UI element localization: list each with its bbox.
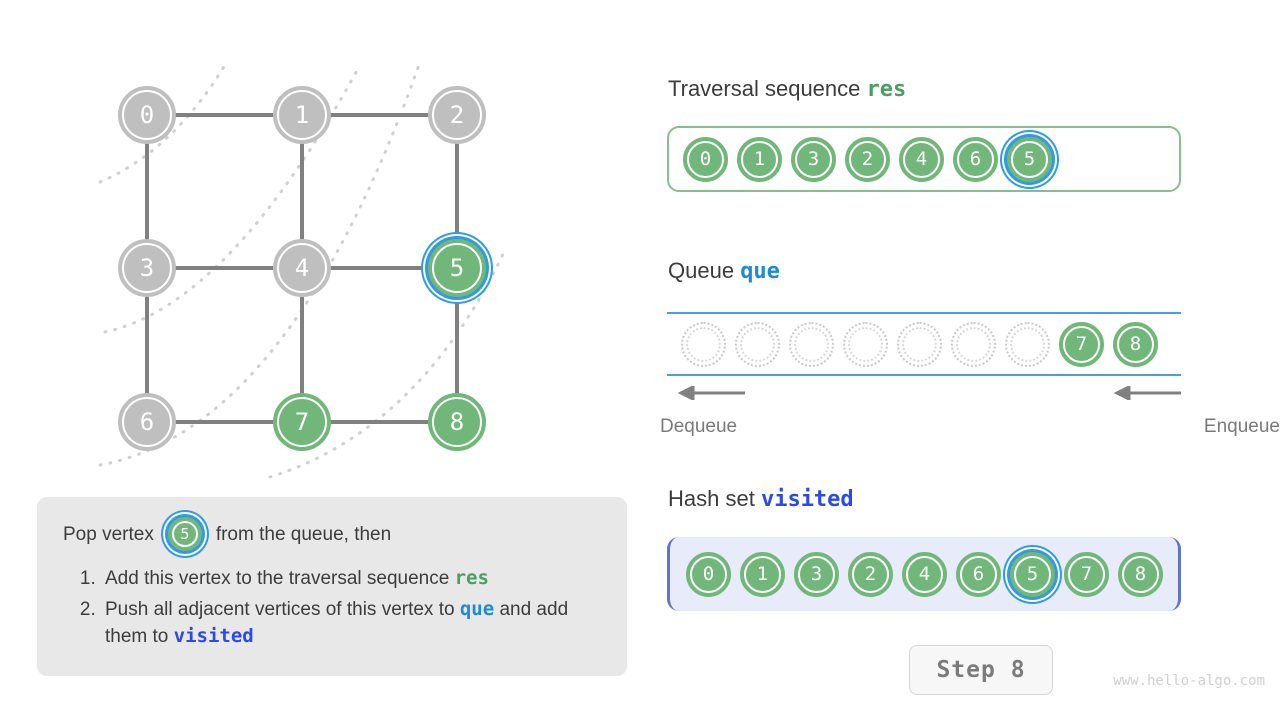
que-item-label: 8: [1130, 333, 1141, 355]
que-empty-slot: [735, 322, 780, 367]
graph-vertex-1[interactable]: 1: [273, 86, 331, 144]
graph-vertex-2[interactable]: 2: [428, 86, 486, 144]
right-panel: Traversal sequence res 0 1 3 2 4 6 5 Que…: [660, 0, 1280, 720]
que-title-plain: Queue: [668, 258, 734, 283]
visited-item-highlighted[interactable]: 5: [1010, 552, 1055, 597]
res-item[interactable]: 1: [737, 137, 782, 182]
que-container: 7 8: [667, 312, 1181, 376]
res-item[interactable]: 4: [899, 137, 944, 182]
visited-item-label: 2: [865, 563, 876, 585]
enqueue-label: Enqueue: [1204, 416, 1280, 438]
vertex-label: 3: [140, 254, 154, 282]
instruction-step-2: Push all adjacent vertices of this verte…: [101, 596, 601, 651]
visited-item-label: 7: [1081, 563, 1092, 585]
visited-item[interactable]: 4: [902, 552, 947, 597]
instruction-box: Pop vertex 5 from the queue, then Add th…: [37, 497, 627, 676]
vertex-label: 5: [450, 254, 464, 282]
instruction-lead-before: Pop vertex: [63, 525, 154, 544]
res-section-title: Traversal sequence res: [668, 76, 906, 102]
res-item-label: 3: [808, 148, 819, 170]
vertex-label: 8: [450, 408, 464, 436]
visited-item-label: 6: [973, 563, 984, 585]
visited-title-code: visited: [761, 487, 854, 512]
vertex-label: 4: [295, 254, 309, 282]
que-title-code: que: [740, 259, 780, 284]
step2-text-before: Push all adjacent vertices of this verte…: [105, 599, 460, 620]
graph-vertex-7[interactable]: 7: [273, 393, 331, 451]
visited-section-title: Hash set visited: [668, 486, 854, 512]
visited-title-plain: Hash set: [668, 486, 755, 511]
dequeue-label: Dequeue: [660, 416, 737, 438]
step1-text: Add this vertex to the traversal sequenc…: [105, 568, 455, 589]
dequeue-arrow-icon: [667, 386, 745, 400]
visited-item-label: 5: [1027, 563, 1038, 585]
que-section-title: Queue que: [668, 258, 780, 284]
graph-vertex-6[interactable]: 6: [118, 393, 176, 451]
instruction-step-1: Add this vertex to the traversal sequenc…: [101, 565, 601, 593]
res-item-label: 4: [916, 148, 927, 170]
enqueue-arrow-icon: [1103, 386, 1181, 400]
vertex-label: 6: [140, 408, 154, 436]
visited-item[interactable]: 8: [1118, 552, 1163, 597]
res-container: 0 1 3 2 4 6 5: [667, 126, 1181, 192]
res-item[interactable]: 6: [953, 137, 998, 182]
que-empty-slot: [897, 322, 942, 367]
queue-arrow-row: [667, 386, 1181, 402]
step2-code-que: que: [460, 598, 494, 620]
vertex-label: 2: [450, 101, 464, 129]
instruction-lead-after: from the queue, then: [216, 525, 391, 544]
step-badge: Step 8: [909, 645, 1053, 695]
que-empty-slot: [789, 322, 834, 367]
visited-item[interactable]: 2: [848, 552, 893, 597]
res-item-highlighted[interactable]: 5: [1007, 137, 1052, 182]
res-title-code: res: [867, 77, 907, 102]
que-item[interactable]: 8: [1113, 322, 1158, 367]
instruction-vertex-chip: 5: [168, 517, 202, 551]
que-empty-slot: [1005, 322, 1050, 367]
res-title-plain: Traversal sequence: [668, 76, 860, 101]
vertex-label: 1: [295, 101, 309, 129]
graph-vertex-8[interactable]: 8: [428, 393, 486, 451]
visited-item[interactable]: 1: [740, 552, 785, 597]
visited-container: 0 1 3 2 4 6 5 7 8: [667, 537, 1181, 611]
que-item-label: 7: [1076, 333, 1087, 355]
visited-item-label: 1: [757, 563, 768, 585]
watermark: www.hello-algo.com: [1113, 673, 1265, 689]
res-item-label: 5: [1024, 148, 1035, 170]
graph-vertex-4[interactable]: 4: [273, 239, 331, 297]
res-item-label: 2: [862, 148, 873, 170]
instruction-lead-line: Pop vertex 5 from the queue, then: [63, 517, 601, 551]
vertex-label: 7: [295, 408, 309, 436]
graph-panel: 0 1 2 3 4 5 6 7 8: [0, 0, 640, 500]
visited-item-label: 8: [1135, 563, 1146, 585]
visited-item-label: 3: [811, 563, 822, 585]
visited-item-label: 0: [703, 563, 714, 585]
res-item-label: 6: [970, 148, 981, 170]
graph-vertex-0[interactable]: 0: [118, 86, 176, 144]
step2-code-visited: visited: [174, 625, 254, 647]
que-item[interactable]: 7: [1059, 322, 1104, 367]
res-item-label: 0: [700, 148, 711, 170]
res-item-label: 1: [754, 148, 765, 170]
visited-item[interactable]: 7: [1064, 552, 1109, 597]
que-empty-slot: [951, 322, 996, 367]
visited-item[interactable]: 6: [956, 552, 1001, 597]
vertex-label: 0: [140, 101, 154, 129]
visited-item[interactable]: 0: [686, 552, 731, 597]
visited-item[interactable]: 3: [794, 552, 839, 597]
graph-vertex-5[interactable]: 5: [428, 239, 486, 297]
visited-item-label: 4: [919, 563, 930, 585]
que-empty-slot: [843, 322, 888, 367]
graph-vertex-3[interactable]: 3: [118, 239, 176, 297]
instruction-vertex-label: 5: [180, 527, 189, 542]
instruction-step-list: Add this vertex to the traversal sequenc…: [63, 565, 601, 651]
res-item[interactable]: 3: [791, 137, 836, 182]
step1-code-res: res: [455, 567, 489, 589]
res-item[interactable]: 0: [683, 137, 728, 182]
res-item[interactable]: 2: [845, 137, 890, 182]
que-empty-slot: [681, 322, 726, 367]
